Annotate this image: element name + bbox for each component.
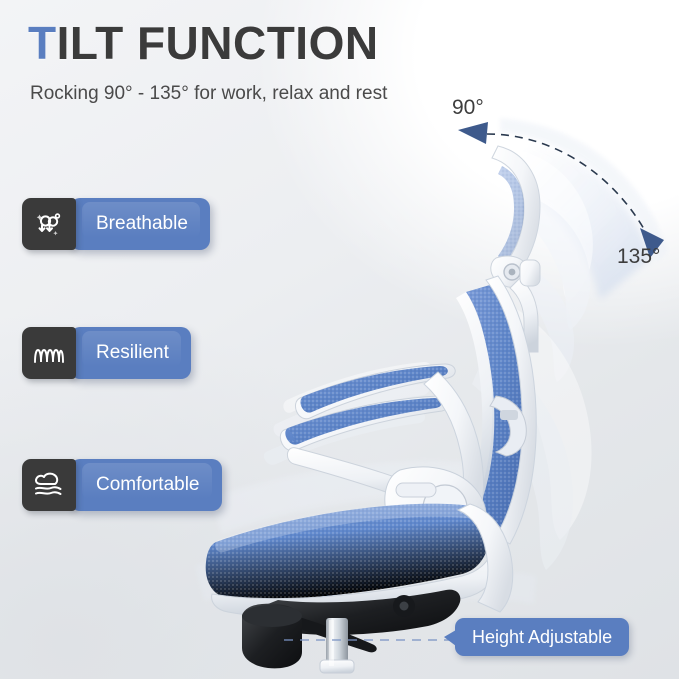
feature-badge-resilient[interactable]: Resilient: [22, 327, 191, 379]
feature-badge-breathable[interactable]: Breathable: [22, 198, 210, 250]
spring-coil-glyph: [32, 340, 66, 366]
cushion-pillow-icon: [22, 459, 76, 511]
product-infographic: TILT FUNCTION Rocking 90° - 135° for wor…: [0, 0, 679, 679]
page-title-accent-letter: T: [28, 17, 57, 69]
feature-badge-label: Comfortable: [70, 459, 222, 511]
callout-label: Height Adjustable: [472, 627, 612, 648]
cushion-pillow-glyph: [32, 470, 66, 500]
arrow-90-degrees: [458, 122, 488, 144]
angle-label-max: 135°: [617, 245, 660, 269]
page-title-rest: ILT FUNCTION: [57, 17, 379, 69]
feature-badge-label: Breathable: [70, 198, 210, 250]
page-subtitle: Rocking 90° - 135° for work, relax and r…: [30, 83, 387, 105]
feature-badge-comfortable[interactable]: Comfortable: [22, 459, 222, 511]
airflow-circulation-glyph: [33, 208, 65, 240]
airflow-circulation-icon: [22, 198, 76, 250]
feature-badge-label: Resilient: [70, 327, 191, 379]
spring-coil-icon: [22, 327, 76, 379]
angle-label-min: 90°: [452, 96, 484, 120]
page-title: TILT FUNCTION: [28, 16, 379, 70]
height-adjustable-callout[interactable]: Height Adjustable: [455, 618, 629, 656]
